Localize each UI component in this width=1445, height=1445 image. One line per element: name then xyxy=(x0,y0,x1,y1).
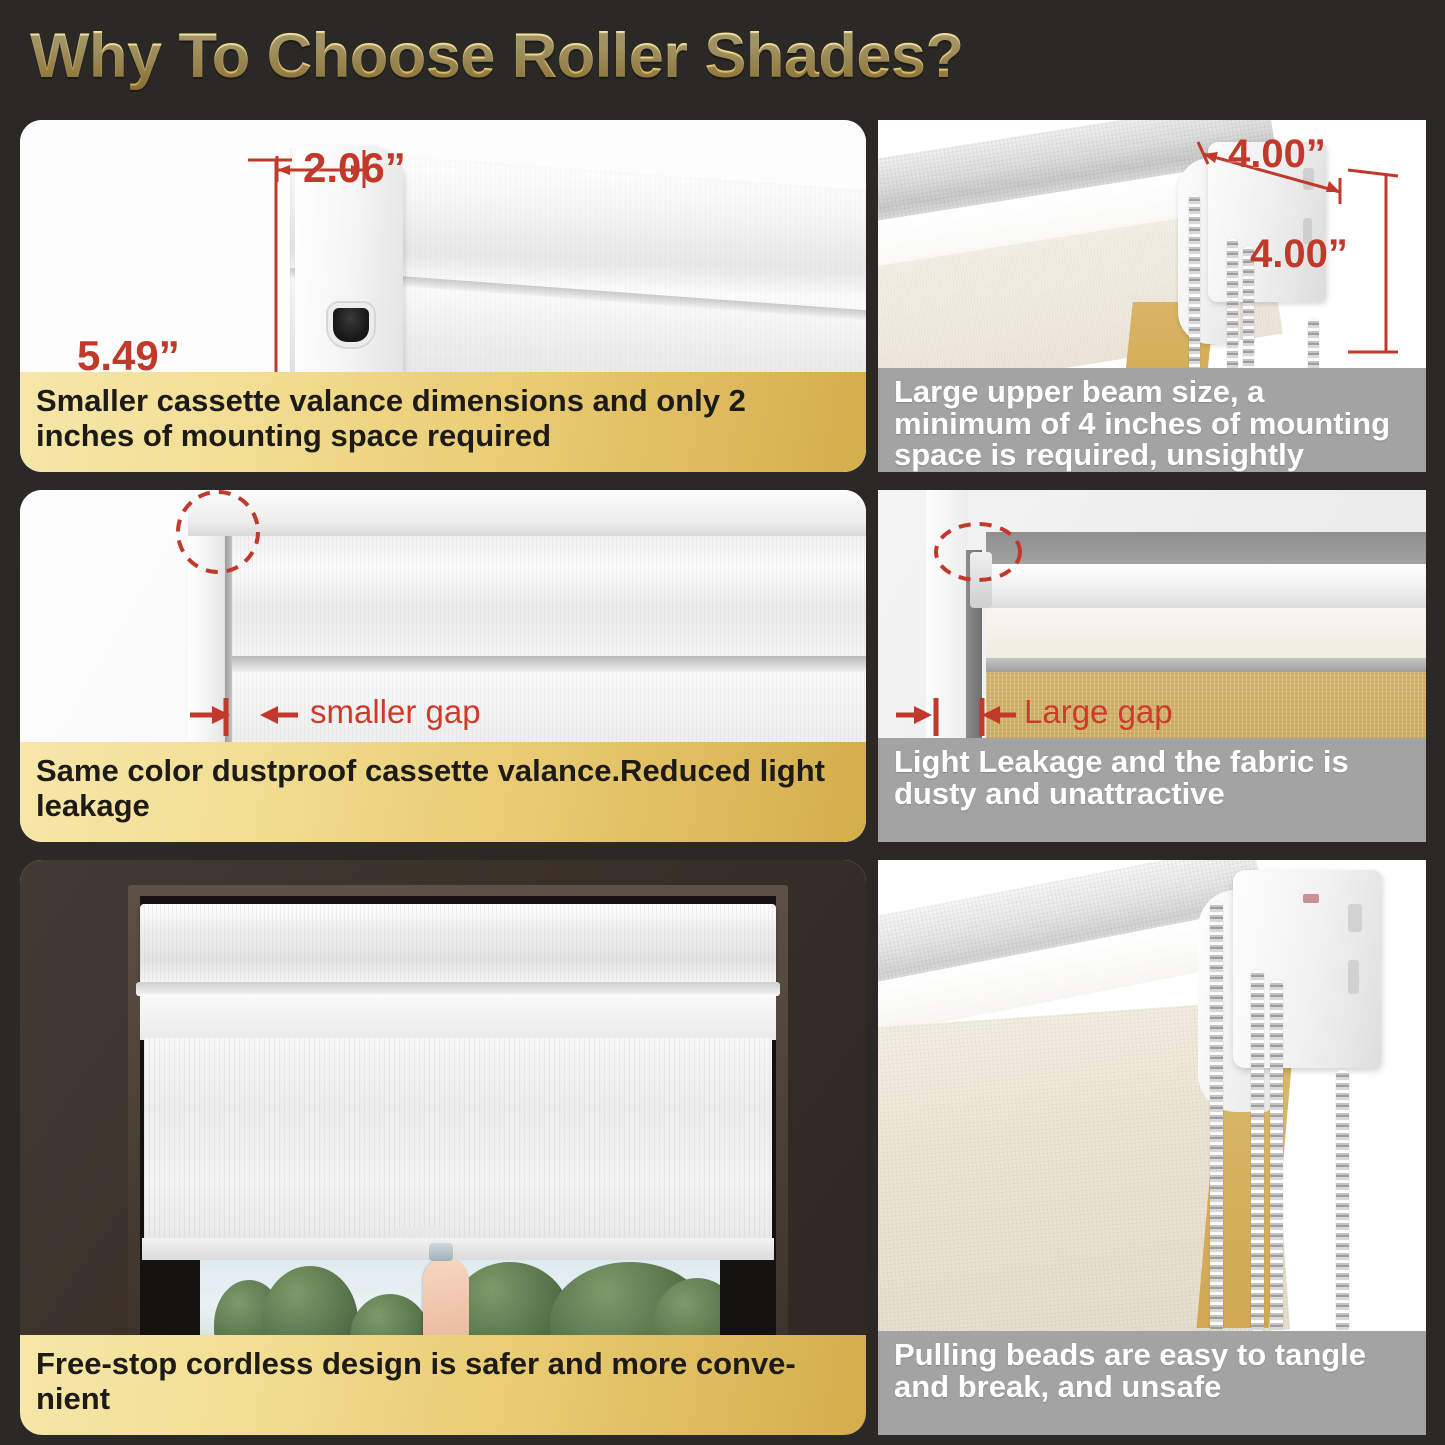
caption-text: Free-stop cordless design is safer and m… xyxy=(36,1347,850,1416)
bead-chain-4 xyxy=(1308,318,1319,372)
gap-label-smaller: smaller gap xyxy=(310,693,481,731)
valance-slot xyxy=(333,308,369,342)
pull-handle xyxy=(429,1243,453,1261)
bead-chain-1 xyxy=(1210,902,1223,1332)
valance-upper xyxy=(986,564,1426,612)
caption-text: Smaller cassette valance dimensions and … xyxy=(36,384,850,453)
bead-chain-3 xyxy=(1270,980,1283,1332)
caption-dustproof-cassette: Same color dustproof cassette valance.Re… xyxy=(20,742,866,842)
panel-free-stop-cordless: Free-stop cordless design is safer and m… xyxy=(20,860,866,1435)
mount-clip xyxy=(970,552,992,608)
brand-tag xyxy=(396,1228,442,1236)
valance-rail xyxy=(986,658,1426,672)
caption-text: Same color dustproof cassette valance.Re… xyxy=(36,754,850,823)
caption-free-stop-cordless: Free-stop cordless design is safer and m… xyxy=(20,1335,866,1435)
bead-chain-4 xyxy=(1336,1070,1349,1332)
bead-chain-2 xyxy=(1227,238,1238,372)
valance-rail xyxy=(232,656,866,672)
shade-fabric xyxy=(144,1038,772,1244)
title-bar: Why To Choose Roller Shades? xyxy=(0,0,1445,112)
panel-pulling-beads: Pulling beads are easy to tangle and bre… xyxy=(878,860,1426,1435)
gap-label-large: Large gap xyxy=(1024,693,1173,731)
panel-dustproof-cassette: smaller gap Same color dustproof cassett… xyxy=(20,490,866,842)
dimension-label-width: 2.06” xyxy=(303,144,406,192)
caption-line-1: Free-stop cordless design is safer and m… xyxy=(36,1346,796,1381)
caption-line-2: nient xyxy=(36,1381,110,1416)
cassette-valance xyxy=(232,536,866,661)
caption-large-upper-beam: Large upper beam size, a minimum of 4 in… xyxy=(878,368,1426,472)
caption-text: Pulling beads are easy to tangle and bre… xyxy=(894,1339,1410,1402)
caption-light-leakage: Light Leakage and the fabric is dusty an… xyxy=(878,738,1426,842)
caption-text: Large upper beam size, a minimum of 4 in… xyxy=(894,376,1410,471)
bead-chain-2 xyxy=(1251,970,1264,1332)
bracket-slot-upper xyxy=(1348,904,1362,932)
panel-large-upper-beam: 4.00” 4.00” Large upper beam size, a min… xyxy=(878,120,1426,472)
caption-cassette-valance: Smaller cassette valance dimensions and … xyxy=(20,372,866,472)
dimension-label-height: 4.00” xyxy=(1250,232,1348,277)
panel-cassette-valance: 2.06” 5.49” Smaller cassette valance dim… xyxy=(20,120,866,472)
bracket-slot-lower xyxy=(1348,960,1359,994)
bead-chain-1 xyxy=(1189,194,1200,372)
caption-pulling-beads: Pulling beads are easy to tangle and bre… xyxy=(878,1331,1426,1435)
bracket-marker xyxy=(1303,894,1319,903)
window-frame-top xyxy=(188,490,866,536)
panel-light-leakage: Large gap Light Leakage and the fabric i… xyxy=(878,490,1426,842)
valance-lower xyxy=(986,608,1426,660)
comparison-grid: 2.06” 5.49” Smaller cassette valance dim… xyxy=(0,112,1445,1445)
cassette-lower xyxy=(140,994,776,1040)
bottom-rail xyxy=(142,1238,774,1260)
page-title: Why To Choose Roller Shades? xyxy=(30,20,963,92)
caption-text: Light Leakage and the fabric is dusty an… xyxy=(894,746,1410,809)
dimension-label-width: 4.00” xyxy=(1228,132,1326,177)
cassette-valance xyxy=(140,904,776,988)
